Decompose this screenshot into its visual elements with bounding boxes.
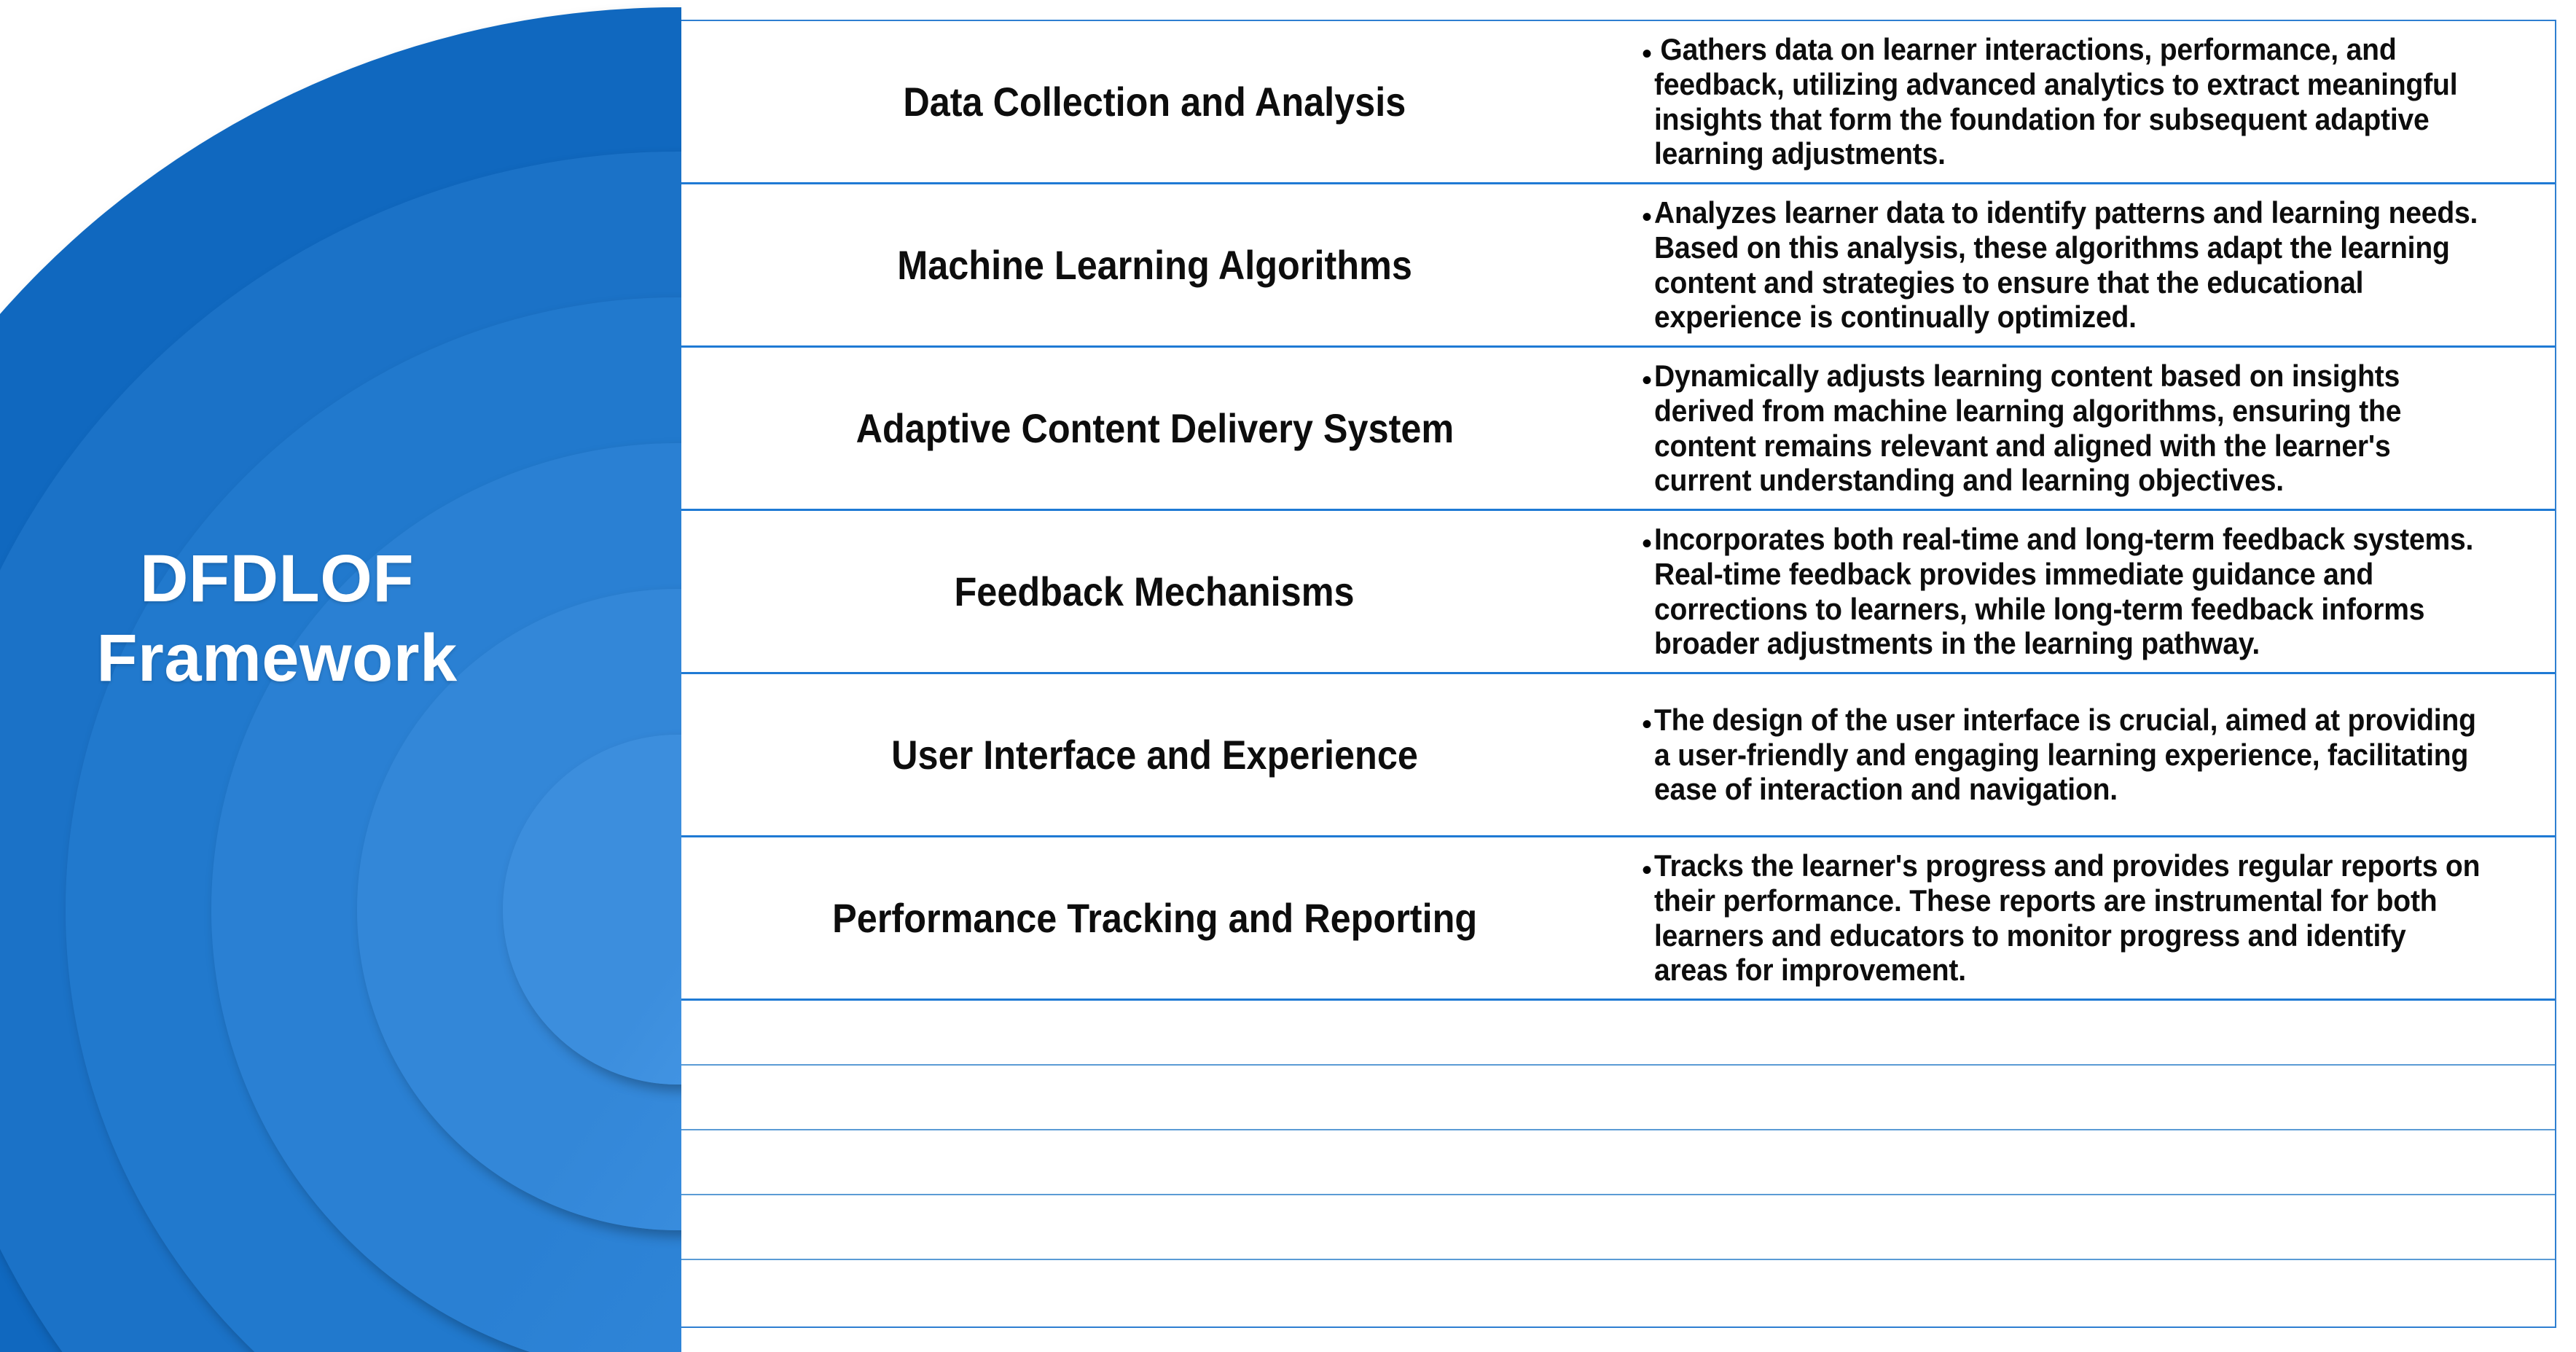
row-description: Dynamically adjusts learning content bas… (1654, 359, 2485, 499)
row-description: Tracks the learner's progress and provid… (1654, 848, 2485, 988)
table-row[interactable]: Machine Learning Algorithms • Analyzes l… (679, 184, 2555, 348)
row-title-cell: Performance Tracking and Reporting (679, 837, 1630, 999)
row-title: Performance Tracking and Reporting (832, 896, 1477, 941)
bullet-icon: • (1642, 359, 1654, 395)
diagram-canvas: DFDLOF Framework Data Collection and Ana… (0, 0, 2576, 1352)
bullet-icon: • (1642, 195, 1654, 232)
row-description-cell: • The design of the user interface is cr… (1630, 674, 2555, 835)
row-title: Data Collection and Analysis (904, 79, 1406, 125)
row-title-cell: Feedback Mechanisms (679, 511, 1630, 672)
concentric-rings-graphic: DFDLOF Framework (0, 0, 681, 1352)
table-row[interactable]: Data Collection and Analysis • Gathers d… (679, 21, 2555, 184)
table-row[interactable]: User Interface and Experience • The desi… (679, 674, 2555, 837)
row-description-cell: • Gathers data on learner interactions, … (1630, 21, 2555, 182)
row-description-cell: • Incorporates both real-time and long-t… (1630, 511, 2555, 672)
table-row[interactable]: Feedback Mechanisms • Incorporates both … (679, 511, 2555, 674)
row-title-cell: Machine Learning Algorithms (679, 184, 1630, 345)
row-description: The design of the user interface is cruc… (1654, 703, 2485, 808)
framework-table: Data Collection and Analysis • Gathers d… (678, 20, 2556, 1328)
row-title-cell: User Interface and Experience (679, 674, 1630, 835)
table-row-empty[interactable] (679, 1260, 2555, 1325)
table-row[interactable]: Adaptive Content Delivery System • Dynam… (679, 348, 2555, 511)
row-description-cell: • Tracks the learner's progress and prov… (1630, 837, 2555, 999)
table-row-empty[interactable] (679, 1066, 2555, 1130)
table-row-empty[interactable] (679, 1001, 2555, 1066)
row-description: Analyzes learner data to identify patter… (1654, 195, 2485, 335)
row-title-cell: Data Collection and Analysis (679, 21, 1630, 182)
framework-center-label: DFDLOF Framework (0, 539, 554, 698)
row-description: Incorporates both real-time and long-ter… (1654, 522, 2485, 662)
row-description-cell: • Analyzes learner data to identify patt… (1630, 184, 2555, 345)
bullet-icon: • (1642, 848, 1654, 885)
table-row-empty[interactable] (679, 1195, 2555, 1260)
table-row[interactable]: Performance Tracking and Reporting • Tra… (679, 837, 2555, 1001)
row-title: Feedback Mechanisms (955, 569, 1355, 614)
row-title: User Interface and Experience (891, 732, 1418, 778)
bullet-icon: • (1642, 703, 1654, 739)
table-row-empty[interactable] (679, 1130, 2555, 1195)
row-title: Adaptive Content Delivery System (856, 406, 1454, 451)
row-description: Gathers data on learner interactions, pe… (1654, 32, 2485, 172)
row-description-cell: • Dynamically adjusts learning content b… (1630, 348, 2555, 509)
bullet-icon: • (1642, 32, 1654, 69)
bullet-icon: • (1642, 522, 1654, 558)
row-title: Machine Learning Algorithms (897, 243, 1412, 288)
row-title-cell: Adaptive Content Delivery System (679, 348, 1630, 509)
